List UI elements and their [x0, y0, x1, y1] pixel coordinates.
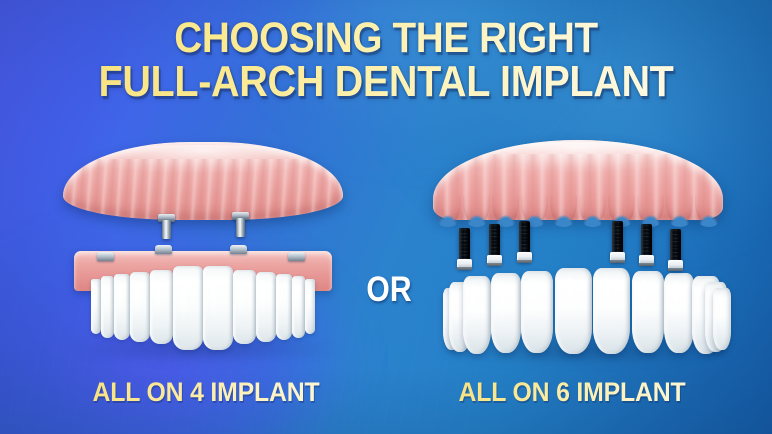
all-on-4-socket-4 — [288, 252, 305, 261]
infographic-canvas: CHOOSING THE RIGHT FULL-ARCH DENTAL IMPL… — [0, 0, 772, 434]
implant-screw-icon — [459, 228, 470, 261]
implant-collar-icon — [610, 252, 625, 263]
all-on-4-upper-denture-arch — [63, 142, 343, 220]
abutment-post-icon — [236, 218, 245, 237]
implant-screw-icon — [519, 221, 530, 254]
tooth — [114, 274, 130, 340]
page-title: CHOOSING THE RIGHT FULL-ARCH DENTAL IMPL… — [0, 18, 772, 104]
crown — [463, 276, 491, 354]
tooth — [150, 270, 173, 344]
implant-screw-icon — [612, 221, 623, 254]
all-on-4-tooth-row — [74, 262, 332, 352]
crown — [632, 271, 664, 353]
tooth — [276, 274, 292, 340]
or-divider-label: OR — [357, 270, 421, 310]
tooth-central-incisor — [173, 266, 203, 350]
implant-screw-icon — [641, 224, 652, 257]
implant-collar-icon — [517, 252, 532, 263]
implant-screw-icon — [489, 224, 500, 257]
crown — [713, 288, 731, 350]
all-on-4-socket-1 — [97, 252, 114, 261]
title-line-1: CHOOSING THE RIGHT — [39, 18, 734, 59]
implant-collar-icon — [639, 255, 654, 266]
crown-central-incisor — [593, 268, 630, 354]
tooth — [101, 276, 114, 338]
all-on-4-abutment-2 — [158, 214, 175, 238]
caption-all-on-4: ALL ON 4 IMPLANT — [48, 377, 364, 408]
crown — [521, 271, 553, 353]
implant-collar-icon — [487, 255, 502, 266]
all-on-4-abutment-3 — [232, 212, 249, 236]
title-line-2: FULL-ARCH DENTAL IMPLANT — [39, 61, 734, 103]
all-on-4-socket-2 — [155, 245, 172, 254]
tooth-central-incisor — [203, 266, 233, 350]
tooth — [256, 272, 276, 342]
crown — [491, 273, 521, 353]
all-on-6-upper-denture-arch — [433, 140, 723, 220]
tooth — [233, 270, 256, 344]
tooth — [130, 272, 150, 342]
implant-screw-icon — [670, 229, 681, 262]
all-on-4-lower-arch — [74, 251, 332, 352]
tooth — [292, 276, 305, 338]
abutment-post-icon — [162, 220, 171, 239]
all-on-6-crown-row — [443, 268, 719, 354]
caption-all-on-6: ALL ON 6 IMPLANT — [412, 377, 732, 408]
all-on-4-socket-3 — [230, 245, 247, 254]
tooth — [91, 279, 101, 334]
implant-collar-icon — [668, 260, 683, 271]
implant-collar-icon — [457, 259, 472, 270]
tooth — [305, 279, 315, 334]
crown-central-incisor — [555, 268, 592, 354]
crown — [664, 273, 694, 353]
